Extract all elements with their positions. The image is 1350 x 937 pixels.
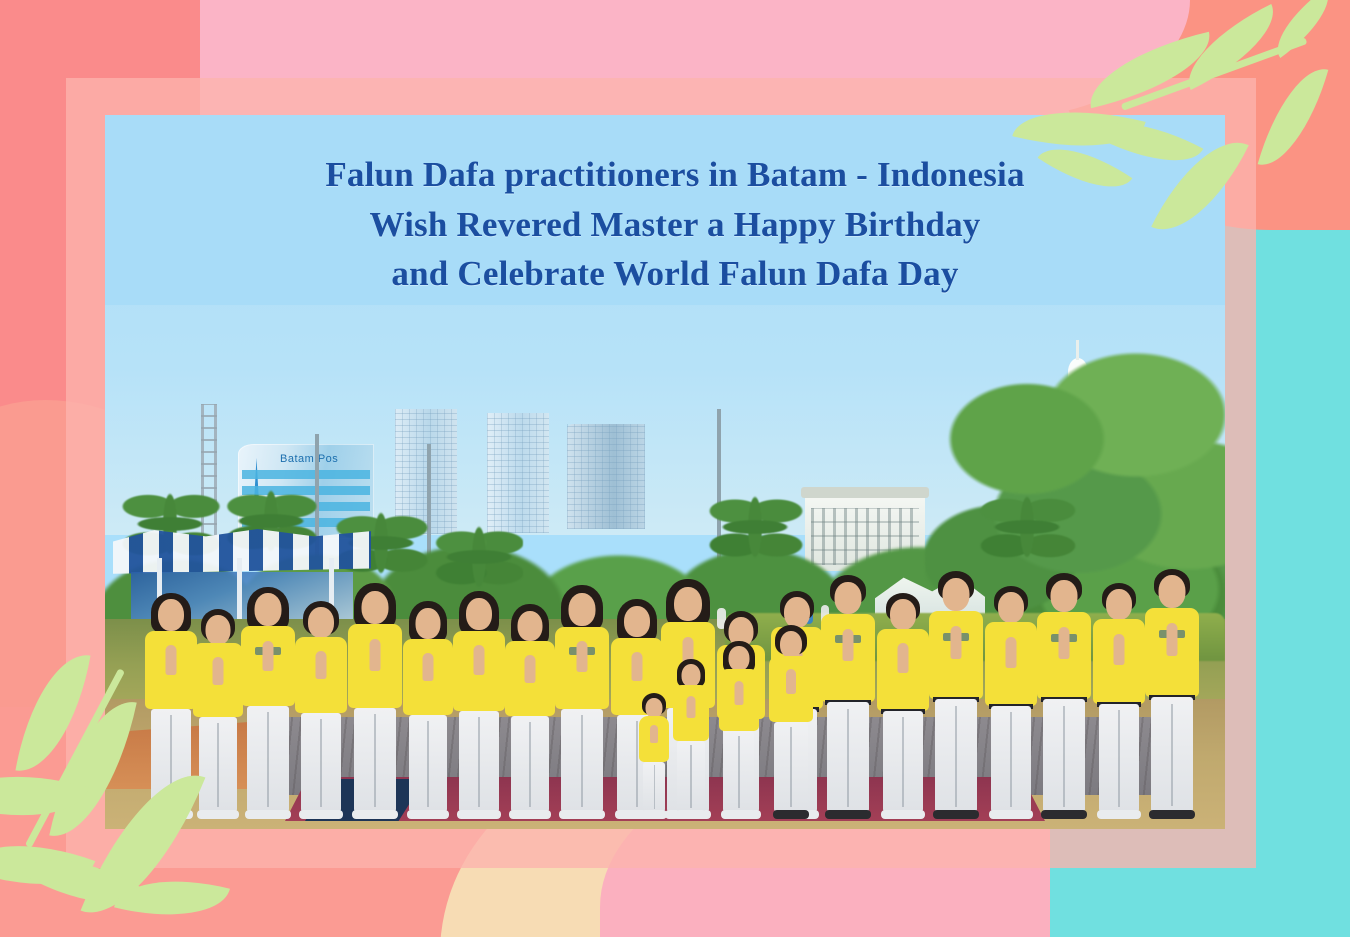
- child-practitioner: [719, 641, 759, 811]
- head: [646, 698, 663, 718]
- practitioner: [555, 585, 609, 811]
- white-trousers: [1043, 699, 1084, 811]
- heshi-hands: [474, 645, 485, 675]
- head: [674, 587, 702, 621]
- shoes: [1097, 810, 1141, 819]
- practitioner: [453, 591, 505, 811]
- shoes: [1041, 810, 1086, 819]
- white-trousers: [774, 722, 807, 811]
- child-practitioner: [769, 625, 813, 811]
- white-trousers: [935, 699, 976, 811]
- head: [569, 593, 596, 626]
- shoes: [881, 810, 925, 819]
- leaf: [15, 646, 90, 779]
- head: [362, 591, 389, 624]
- shoes: [407, 810, 449, 819]
- heshi-hands: [632, 652, 643, 681]
- shoes: [352, 810, 397, 819]
- shoes: [509, 810, 551, 819]
- head: [416, 608, 441, 639]
- heshi-hands: [735, 681, 744, 705]
- shoes: [933, 810, 978, 819]
- shoes: [676, 810, 706, 819]
- head: [1159, 575, 1186, 608]
- heshi-hands: [1006, 637, 1017, 668]
- practitioner: [1037, 573, 1091, 811]
- white-trousers: [409, 715, 447, 811]
- shoes: [1149, 810, 1194, 819]
- white-trousers: [827, 702, 868, 811]
- heshi-hands: [1059, 627, 1070, 659]
- white-trousers: [724, 731, 754, 811]
- heshi-hands: [650, 725, 658, 743]
- white-trousers: [1099, 704, 1139, 811]
- heshi-hands: [843, 629, 854, 661]
- practitioner: [1145, 569, 1199, 811]
- shoes: [825, 810, 870, 819]
- white-trousers: [561, 709, 602, 811]
- shoes: [457, 810, 501, 819]
- child-practitioner: [673, 659, 709, 811]
- head: [682, 664, 701, 687]
- practitioner: [1093, 581, 1145, 811]
- heshi-hands: [1114, 634, 1125, 665]
- head: [1106, 589, 1132, 620]
- head: [943, 578, 970, 611]
- shoes: [989, 810, 1033, 819]
- heshi-hands: [898, 643, 909, 673]
- title-line-3: and Celebrate World Falun Dafa Day: [0, 249, 1350, 299]
- leaf: [1258, 58, 1329, 175]
- head: [784, 597, 810, 628]
- white-trousers: [677, 741, 704, 811]
- head: [1051, 580, 1078, 612]
- head: [624, 606, 650, 637]
- child-practitioner: [639, 693, 669, 811]
- white-trousers: [1151, 697, 1192, 811]
- poster-canvas: Batam Pos: [0, 0, 1350, 937]
- practitioner: [877, 589, 929, 811]
- head: [890, 599, 916, 630]
- head: [998, 592, 1024, 623]
- white-trousers: [354, 708, 395, 811]
- practitioner: [985, 583, 1037, 811]
- head: [835, 582, 862, 614]
- head: [780, 631, 802, 658]
- shoes: [773, 810, 810, 819]
- white-trousers: [991, 706, 1031, 811]
- practitioner: [403, 599, 453, 811]
- white-trousers: [511, 716, 549, 811]
- heshi-hands: [687, 696, 696, 718]
- white-trousers: [883, 711, 923, 811]
- shoes: [641, 810, 666, 819]
- practitioner: [505, 601, 555, 811]
- practitioner: [929, 571, 983, 811]
- heshi-hands: [577, 641, 588, 672]
- head: [518, 611, 543, 641]
- heshi-hands: [525, 655, 536, 683]
- white-trousers: [643, 762, 666, 811]
- leaf-accent-left: [18, 640, 178, 800]
- practitioner: [348, 583, 402, 811]
- practitioner: [821, 575, 875, 811]
- heshi-hands: [370, 639, 381, 671]
- head: [729, 646, 750, 671]
- white-trousers: [459, 711, 499, 811]
- leaf-spray-top-right: [1050, 0, 1350, 240]
- heshi-hands: [423, 653, 434, 681]
- shoes: [722, 810, 756, 819]
- heshi-hands: [1167, 623, 1178, 656]
- head: [466, 598, 492, 630]
- shoes: [559, 810, 604, 819]
- heshi-hands: [951, 626, 962, 659]
- heshi-hands: [786, 669, 796, 694]
